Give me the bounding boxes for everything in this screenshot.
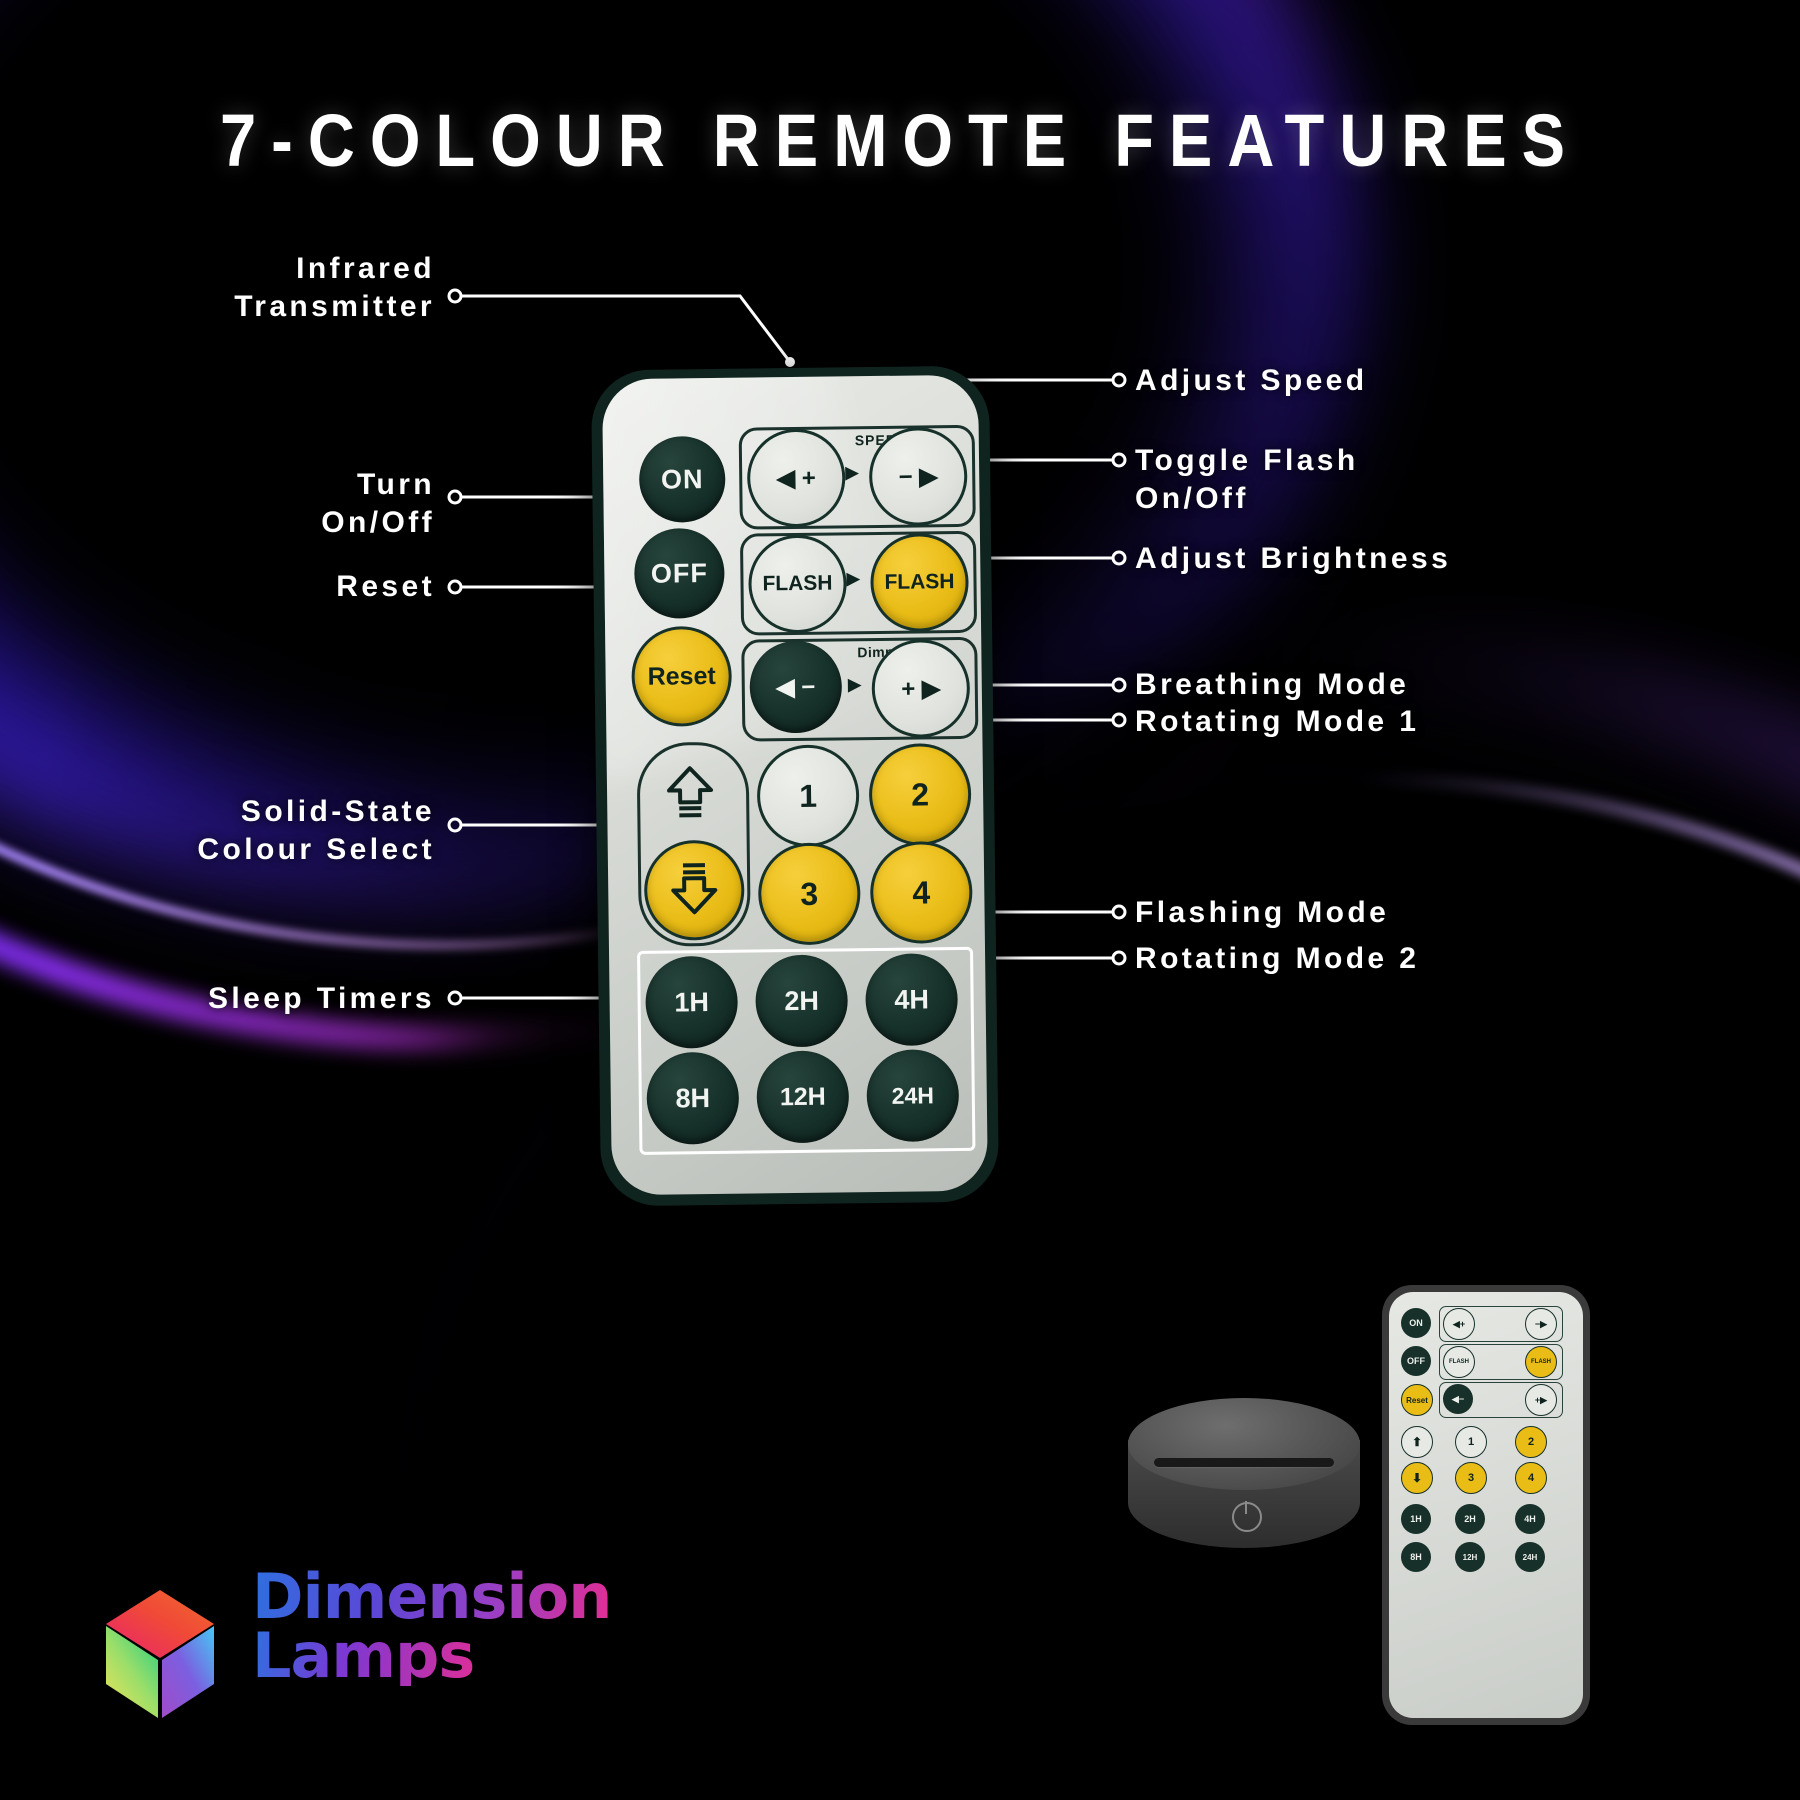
logo-word-lamps: Lamps: [252, 1627, 672, 1686]
thumb-button-speed-increase: ◀+: [1443, 1308, 1475, 1340]
label-flashing-mode: Flashing Mode: [1135, 894, 1389, 932]
thumb-button-timer-24h: 24H: [1515, 1542, 1545, 1572]
logo-wordmark: Dimension Lamps: [252, 1568, 672, 1686]
label-breathing-mode: Breathing Mode: [1135, 666, 1409, 704]
lamp-base-thumbnail: [1128, 1398, 1360, 1568]
page-title: 7-COLOUR REMOTE FEATURES: [108, 98, 1692, 183]
down-arrow-icon: [670, 859, 719, 921]
thumb-button-timer-12h: 12H: [1455, 1542, 1485, 1572]
lamp-base-top: [1128, 1398, 1360, 1490]
button-mode-3[interactable]: 3: [758, 842, 861, 945]
thumb-button-reset: Reset: [1401, 1384, 1433, 1416]
label-adjust-speed: Adjust Speed: [1135, 362, 1368, 400]
label-sleep-timers: Sleep Timers: [208, 980, 435, 1018]
thumb-button-dimmer-increase: +▶: [1525, 1384, 1557, 1416]
label-solid-state-colour-select: Solid-State Colour Select: [197, 793, 435, 869]
label-reset: Reset: [336, 568, 435, 606]
button-mode-2[interactable]: 2: [868, 743, 971, 846]
cube-icon: [100, 1586, 220, 1722]
thumb-button-speed-decrease: −▶: [1525, 1308, 1557, 1340]
thumb-button-colour-down: ⬇: [1401, 1462, 1433, 1494]
brand-logo: Dimension Lamps: [100, 1572, 620, 1762]
thumb-button-mode-4: 4: [1515, 1462, 1547, 1494]
thumb-button-mode-1: 1: [1455, 1426, 1487, 1458]
thumb-button-on: ON: [1401, 1308, 1431, 1338]
thumb-button-dimmer-decrease: ◀−: [1443, 1384, 1473, 1414]
lamp-base-slot: [1154, 1458, 1334, 1467]
thumb-button-flash-on: FLASH: [1525, 1346, 1557, 1378]
thumb-button-timer-1h: 1H: [1401, 1504, 1431, 1534]
thumb-button-flash-off: FLASH: [1443, 1346, 1475, 1378]
button-mode-4[interactable]: 4: [870, 841, 973, 944]
label-adjust-brightness: Adjust Brightness: [1135, 540, 1451, 578]
up-arrow-icon: [666, 763, 715, 825]
thumb-button-colour-up: ⬆: [1401, 1426, 1433, 1458]
label-infrared-transmitter: Infrared Transmitter: [234, 250, 435, 326]
label-rotating-mode-1: Rotating Mode 1: [1135, 703, 1419, 741]
thumb-button-timer-4h: 4H: [1515, 1504, 1545, 1534]
label-toggle-flash-on-off: Toggle Flash On/Off: [1135, 442, 1359, 518]
button-mode-1[interactable]: 1: [757, 744, 860, 847]
flash-separator-arrow-icon: ▶: [846, 568, 860, 589]
label-turn-on-off: Turn On/Off: [321, 466, 435, 542]
thumb-button-timer-2h: 2H: [1455, 1504, 1485, 1534]
thumb-button-mode-2: 2: [1515, 1426, 1547, 1458]
dimmer-separator-arrow-icon: ▶: [848, 674, 862, 695]
power-symbol-icon: [1232, 1502, 1262, 1532]
remote-thumbnail: ON OFF Reset ◀+ −▶ FLASH FLASH ◀− +▶ ⬆ ⬇…: [1382, 1285, 1590, 1725]
remote-thumbnail-face: ON OFF Reset ◀+ −▶ FLASH FLASH ◀− +▶ ⬆ ⬇…: [1389, 1292, 1583, 1718]
thumb-button-mode-3: 3: [1455, 1462, 1487, 1494]
label-rotating-mode-2: Rotating Mode 2: [1135, 940, 1419, 978]
speed-separator-arrow-icon: ▶: [845, 462, 859, 483]
thumb-button-timer-8h: 8H: [1401, 1542, 1431, 1572]
infographic-canvas: 7-COLOUR REMOTE FEATURES: [0, 0, 1800, 1800]
thumb-button-off: OFF: [1401, 1346, 1431, 1376]
remote-control: ON OFF Reset SPEED ◀ + ▶ − ▶ FLASH ▶ FLA…: [591, 366, 999, 1207]
remote-faceplate: ON OFF Reset SPEED ◀ + ▶ − ▶ FLASH ▶ FLA…: [602, 375, 988, 1196]
